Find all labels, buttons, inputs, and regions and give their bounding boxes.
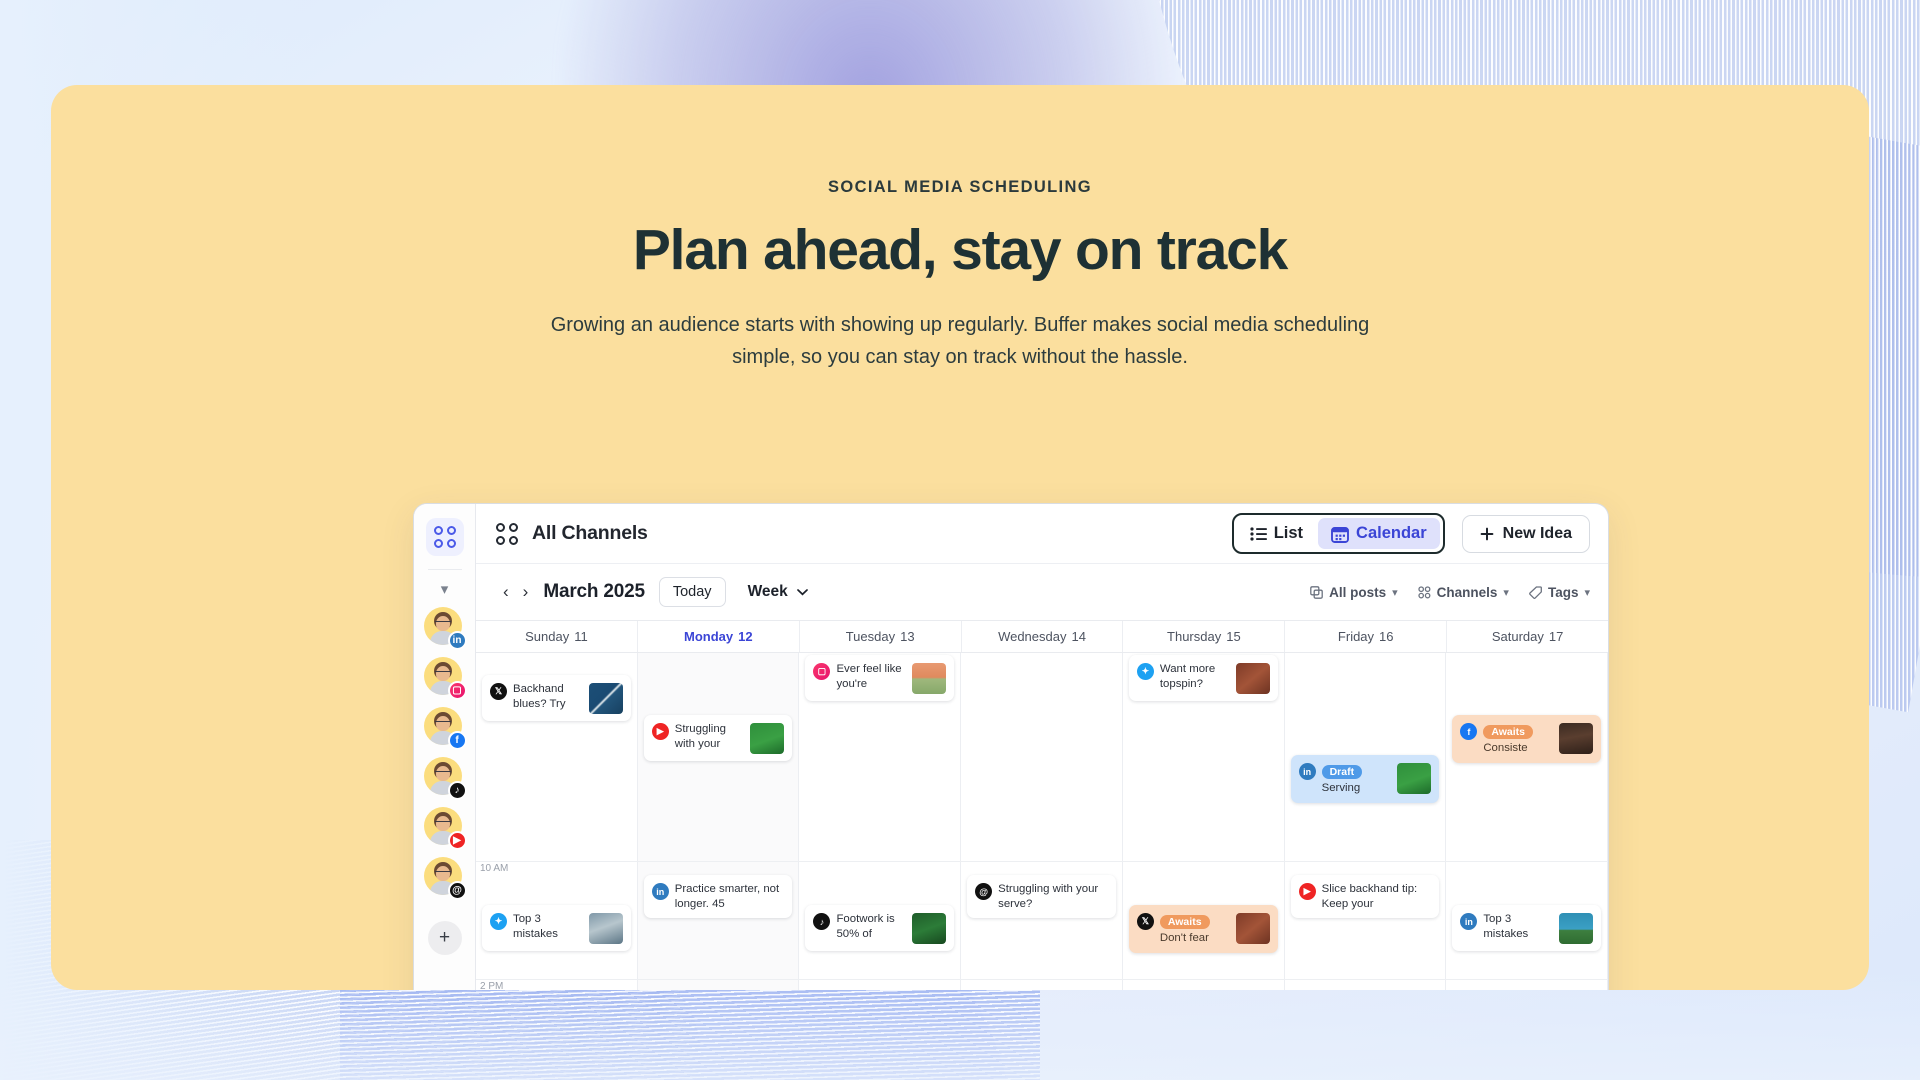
calendar-column-monday[interactable]: ▶Struggling with yourinPractice smarter,… [638,653,800,990]
hour-divider [476,861,1608,862]
calendar-post-card[interactable]: fAwaitsConsiste [1452,715,1601,763]
filter-tags[interactable]: Tags ▾ [1529,585,1590,600]
tag-icon [1529,586,1542,599]
sidebar-channel-instagram[interactable]: ▢ [424,657,466,699]
plus-icon [1480,527,1494,541]
calendar-post-card[interactable]: ♪Footwork is 50% of [805,905,954,951]
calendar-day-header-sunday[interactable]: Sunday11 [476,621,638,652]
copy-icon [1310,586,1323,599]
post-body: Ever feel like you're [836,662,906,691]
add-channel-button[interactable]: + [428,921,462,955]
status-badge: Draft [1322,765,1363,779]
calendar-column-wednesday[interactable]: @Struggling with your serve?fNew session… [961,653,1123,990]
tab-list-label: List [1274,524,1303,543]
calendar-grid: 𝕏Backhand blues? Try✦Top 3 mistakes▶Stru… [476,653,1608,990]
instagram-icon: ▢ [448,681,467,700]
calendar-column-sunday[interactable]: 𝕏Backhand blues? Try✦Top 3 mistakes [476,653,638,990]
chevron-down-icon: ▾ [1392,586,1398,599]
range-label: Week [748,583,788,601]
post-body: Struggling with your [675,722,745,751]
day-name: Tuesday [846,629,895,644]
all-channels-icon-button[interactable] [426,518,464,556]
hour-label: 10 AM [480,863,508,874]
twitter-icon: ✦ [1137,663,1154,680]
filter-tags-label: Tags [1548,585,1579,600]
day-name: Sunday [525,629,569,644]
tab-calendar-label: Calendar [1356,524,1427,543]
post-text: Top 3 mistakes [513,912,583,941]
list-icon [1250,527,1267,541]
post-text: Don't fear [1160,931,1230,946]
day-name: Wednesday [998,629,1066,644]
view-toggle: List Calend [1232,513,1445,554]
filter-all-posts-label: All posts [1329,585,1386,600]
new-idea-button[interactable]: New Idea [1462,515,1590,553]
day-number: 17 [1549,629,1563,644]
calendar-post-card[interactable]: 𝕏AwaitsDon't fear [1129,905,1278,953]
hour-divider [476,979,1608,980]
post-text: Want more topspin? [1160,662,1230,691]
post-body: DraftServing [1322,762,1392,796]
filter-all-posts[interactable]: All posts ▾ [1310,585,1398,600]
post-text: Serving [1322,781,1392,796]
channel-sidebar: ▾ in▢f♪▶@ + [414,504,476,990]
post-body: Want more topspin? [1160,662,1230,691]
filter-channels-label: Channels [1437,585,1498,600]
new-idea-label: New Idea [1503,525,1572,543]
post-body: Backhand blues? Try [513,682,583,711]
post-thumbnail [1236,663,1270,694]
threads-icon: @ [975,883,992,900]
post-text: Footwork is 50% of [836,912,906,941]
linkedin-icon: in [448,631,467,650]
status-badge: Awaits [1160,915,1210,929]
calendar-day-header-thursday[interactable]: Thursday15 [1123,621,1285,652]
day-name: Friday [1338,629,1374,644]
post-thumbnail [589,683,623,714]
grid-icon [496,523,518,545]
twitter-icon: ✦ [490,913,507,930]
status-badge: Awaits [1483,725,1533,739]
facebook-icon: f [1460,723,1477,740]
app-window: ▾ in▢f♪▶@ + All Channels [413,503,1609,990]
sidebar-channel-list: in▢f♪▶@ [424,607,466,907]
calendar-day-header-monday[interactable]: Monday12 [638,621,800,652]
post-thumbnail [1559,913,1593,944]
chevron-down-icon: ▾ [1503,586,1509,599]
threads-icon: @ [448,881,467,900]
linkedin-icon: in [1460,913,1477,930]
linkedin-icon: in [652,883,669,900]
post-text: Ever feel like you're [836,662,906,691]
hero-subtitle: Growing an audience starts with showing … [533,309,1388,373]
sidebar-channel-tiktok[interactable]: ♪ [424,757,466,799]
post-text: Slice backhand tip: Keep your [1322,882,1432,911]
day-number: 12 [738,629,752,644]
calendar-toolbar: ‹ › March 2025 Today Week [476,564,1608,620]
post-body: Slice backhand tip: Keep your [1322,882,1432,911]
app-main: All Channels List [476,504,1608,990]
linkedin-icon: in [1299,763,1316,780]
post-text: Consiste [1483,741,1553,756]
range-selector[interactable]: Week [748,583,808,601]
calendar-post-card[interactable]: inPractice smarter, not longer. 45 [644,875,793,918]
calendar-day-header-wednesday[interactable]: Wednesday14 [962,621,1124,652]
post-thumbnail [589,913,623,944]
post-body: Top 3 mistakes [1483,912,1553,941]
calendar-column-tuesday[interactable]: ▢Ever feel like you're♪Footwork is 50% o… [799,653,961,990]
calendar-post-card[interactable]: @Struggling with your serve? [967,875,1116,918]
calendar-post-card[interactable]: ▢Ever feel like you're [805,655,954,701]
filter-group: All posts ▾ Channels ▾ [1310,585,1590,600]
calendar-post-card[interactable]: inDraftServing [1291,755,1440,803]
grid-icon [434,526,456,548]
day-name: Saturday [1492,629,1544,644]
app-title: All Channels [532,522,648,545]
current-month-label: March 2025 [543,581,645,603]
app-topbar: All Channels List [476,504,1608,564]
sidebar-divider [428,569,462,570]
topbar-actions: List Calend [1232,513,1590,554]
x-icon: 𝕏 [1137,913,1154,930]
calendar-post-card[interactable]: 𝕏Backhand blues? Try [482,675,631,721]
chevron-down-icon [797,589,808,596]
hero-card: SOCIAL MEDIA SCHEDULING Plan ahead, stay… [51,85,1869,990]
sidebar-channel-threads[interactable]: @ [424,857,466,899]
calendar-post-card[interactable]: ▶Struggling with your [644,715,793,761]
post-text: Struggling with your serve? [998,882,1108,911]
post-body: Footwork is 50% of [836,912,906,941]
page-title: Plan ahead, stay on track [51,217,1869,283]
calendar-column-saturday[interactable]: fAwaitsConsisteinTop 3 mistakes [1446,653,1608,990]
post-body: AwaitsConsiste [1483,722,1553,756]
calendar-post-card[interactable]: ▶Slice backhand tip: Keep your [1291,875,1440,918]
tiktok-icon: ♪ [448,781,467,800]
grid-icon [1418,586,1431,599]
post-text: Struggling with your [675,722,745,751]
calendar-column-thursday[interactable]: ✦Want more topspin?𝕏AwaitsDon't fear@New… [1123,653,1285,990]
post-body: Top 3 mistakes [513,912,583,941]
calendar-day-headers: Sunday11Monday12Tuesday13Wednesday14Thur… [476,620,1608,653]
tab-calendar[interactable]: Calendar [1318,518,1440,549]
tab-list[interactable]: List [1237,518,1316,549]
day-name: Thursday [1167,629,1221,644]
day-number: 11 [574,629,588,644]
day-number: 16 [1379,629,1393,644]
post-thumbnail [1559,723,1593,754]
post-body: Practice smarter, not longer. 45 [675,882,785,911]
calendar-day-header-friday[interactable]: Friday16 [1285,621,1447,652]
calendar-post-card[interactable]: ✦Want more topspin? [1129,655,1278,701]
youtube-icon: ▶ [652,723,669,740]
post-text: Top 3 mistakes [1483,912,1553,941]
prev-week-button[interactable]: ‹ [496,580,516,604]
tiktok-icon: ♪ [813,913,830,930]
today-button[interactable]: Today [659,577,726,607]
day-number: 15 [1226,629,1240,644]
calendar-post-card[interactable]: ✦Top 3 mistakes [482,905,631,951]
post-thumbnail [912,913,946,944]
calendar-day-header-saturday[interactable]: Saturday17 [1447,621,1608,652]
title-group: All Channels [496,522,648,545]
filter-channels[interactable]: Channels ▾ [1418,585,1509,600]
post-thumbnail [912,663,946,694]
calendar-column-friday[interactable]: inDraftServing▶Slice backhand tip: Keep … [1285,653,1447,990]
youtube-icon: ▶ [1299,883,1316,900]
calendar-day-header-tuesday[interactable]: Tuesday13 [800,621,962,652]
post-text: Practice smarter, not longer. 45 [675,882,785,911]
facebook-icon: f [448,731,467,750]
post-body: AwaitsDon't fear [1160,912,1230,946]
instagram-icon: ▢ [813,663,830,680]
post-thumbnail [1397,763,1431,794]
sidebar-channel-linkedin[interactable]: in [424,607,466,649]
chevron-down-icon: ▾ [1584,586,1590,599]
sidebar-channel-facebook[interactable]: f [424,707,466,749]
hour-label: 2 PM [480,981,503,990]
post-thumbnail [750,723,784,754]
day-number: 14 [1071,629,1085,644]
eyebrow-label: SOCIAL MEDIA SCHEDULING [51,178,1869,197]
youtube-icon: ▶ [448,831,467,850]
sidebar-channel-youtube[interactable]: ▶ [424,807,466,849]
next-week-button[interactable]: › [516,580,536,604]
day-name: Monday [684,629,733,644]
day-number: 13 [900,629,914,644]
post-body: Struggling with your serve? [998,882,1108,911]
post-text: Backhand blues? Try [513,682,583,711]
calendar-post-card[interactable]: inTop 3 mistakes [1452,905,1601,951]
calendar-icon [1331,525,1349,543]
post-thumbnail [1236,913,1270,944]
x-icon: 𝕏 [490,683,507,700]
calendar-view: Sunday11Monday12Tuesday13Wednesday14Thur… [476,620,1608,990]
chevron-down-icon[interactable]: ▾ [441,582,449,597]
